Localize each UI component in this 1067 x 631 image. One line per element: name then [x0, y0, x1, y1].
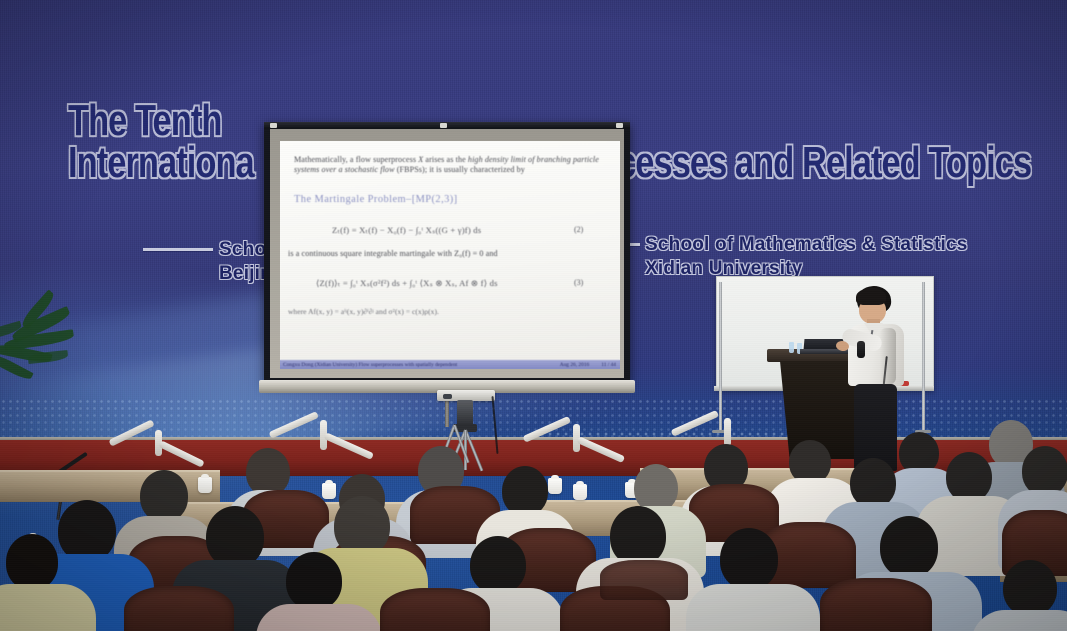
presentation-photo-scene: The Tenth Internationa ocesses and Relat… [0, 0, 1067, 631]
audience-head [206, 506, 264, 568]
audience-head [58, 500, 116, 562]
teacup-5 [573, 484, 587, 500]
teacup-2 [322, 483, 336, 499]
slide-equation-2-number: (2) [574, 225, 583, 234]
audience-torso [256, 604, 382, 631]
projection-screen-top-rail [264, 122, 630, 129]
slide-content: Mathematically, a flow superprocess X ar… [280, 141, 620, 369]
banner-title-line-2-left: Internationa [68, 138, 254, 188]
whiteboard-leg-right [922, 282, 925, 432]
slide-paragraph-emph-1: high density limit of [468, 155, 535, 164]
water-bottle-podium-1 [789, 342, 794, 353]
slide-equation-3: ⟨Z(f)⟩ₜ = ∫₀ᵗ Xₛ(σ²f²) ds + ∫₀ᵗ ⟨Xₛ ⊗ Xₛ… [316, 278, 498, 289]
slide-paragraph-part-7: characterized by [470, 165, 525, 174]
teacup-1 [198, 477, 212, 493]
audience-head [140, 470, 188, 522]
screen-mount-center [440, 123, 447, 128]
tripod-column [457, 400, 473, 426]
chair-front-4 [820, 578, 932, 631]
microphone-icon [857, 341, 865, 358]
audience-head [6, 534, 58, 590]
audience-head [946, 452, 992, 502]
slide-footer-page: 11 / 44 [601, 362, 620, 368]
audience-head [246, 448, 290, 496]
whiteboard-leg-left [719, 282, 722, 432]
slide-footer-date: Aug 26, 2016 [560, 362, 602, 368]
presenter-hair-front [856, 288, 886, 305]
audience-head [470, 536, 526, 594]
banner-affiliation-right-line-1: School of Mathematics & Statistics [645, 234, 967, 256]
audience-head [610, 506, 666, 566]
audience-head [634, 464, 678, 512]
audience-head [1022, 446, 1067, 496]
audience-head [1003, 560, 1057, 616]
screen-mount-left [270, 123, 277, 128]
stage-railing-post-4 [724, 418, 731, 446]
audience-torso [686, 584, 820, 631]
slide-footer-bar: Congxu Dong (Xidian University) Flow sup… [280, 360, 620, 369]
banner-left-dash [143, 248, 213, 251]
chair-front-2 [380, 588, 490, 631]
audience-head [334, 496, 390, 556]
chair-front-5 [600, 560, 688, 600]
slide-paragraph-part-3: arises as the [423, 155, 468, 164]
audience-head [720, 528, 778, 590]
audience-head [502, 466, 548, 516]
projection-screen: Mathematically, a flow superprocess X ar… [264, 122, 630, 394]
audience-head [286, 552, 342, 610]
slide-where-text: where Af(x, y) = aⁱʲ(x, y)∂ⁱ∂ʲ and σ²(x)… [288, 307, 439, 316]
screen-mount-right [616, 123, 623, 128]
teacup-4 [548, 478, 562, 494]
slide-paragraph-part-1: Mathematically, a flow superprocess [294, 155, 418, 164]
slide-between-text: is a continuous square integrable martin… [288, 249, 608, 259]
banner-affiliation-left-line-1: Scho [219, 239, 266, 261]
slide-equation-2: Zₜ(f) = Xₜ(f) − X₀(f) − ∫₀ᵗ Xₛ((G + γ)f)… [332, 225, 481, 236]
projected-slide: Mathematically, a flow superprocess X ar… [280, 141, 620, 369]
slide-equation-3-number: (3) [574, 278, 583, 287]
projector-lens-icon [443, 394, 452, 399]
audience-head [850, 458, 896, 508]
slide-footer-author: Congxu Dong (Xidian University) Flow sup… [280, 362, 560, 368]
audience-head [880, 516, 938, 578]
banner-title-line-2-right: ocesses and Related Topics [597, 138, 1031, 188]
presenter-shirt-shading [880, 328, 896, 384]
chair-front-1 [124, 586, 234, 631]
slide-heading: The Martingale Problem–[MP(2,3)] [294, 194, 458, 205]
audience-torso [0, 584, 96, 631]
slide-paragraph-part-6: (FBPSs); it is usually [395, 165, 468, 174]
